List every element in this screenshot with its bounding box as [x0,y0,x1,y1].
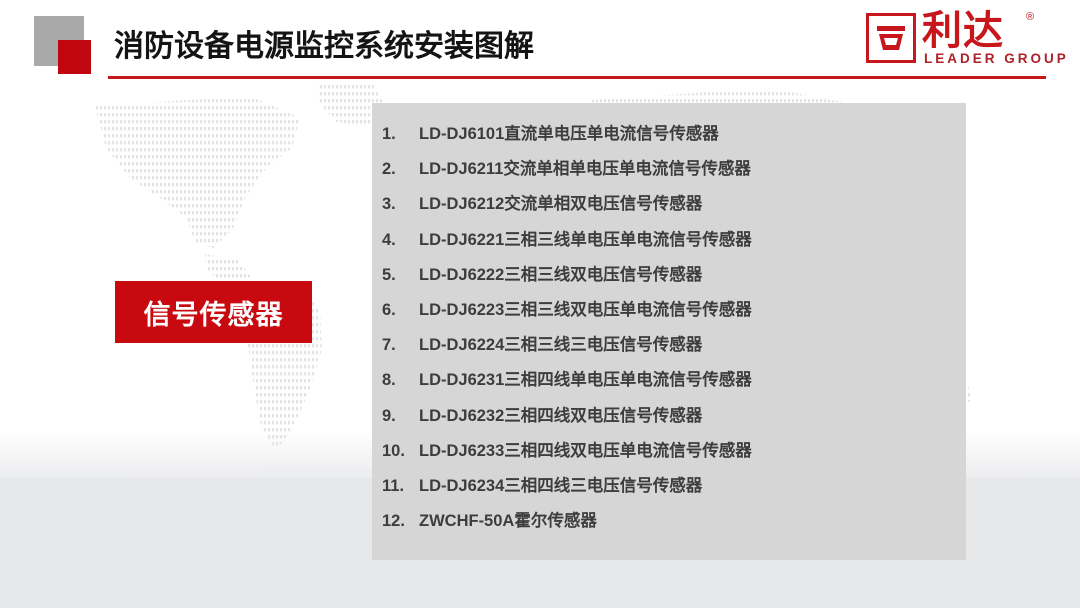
list-item-label: LD-DJ6101直流单电压单电流信号传感器 [419,120,719,144]
list-item-number: 8. [382,371,419,390]
product-list: 1.LD-DJ6101直流单电压单电流信号传感器2.LD-DJ6211交流单相单… [372,120,966,542]
list-item-label: LD-DJ6223三相三线双电压单电流信号传感器 [419,296,752,320]
list-item-label: LD-DJ6212交流单相双电压信号传感器 [419,190,702,214]
list-item-number: 7. [382,336,419,355]
list-item-number: 3. [382,195,419,214]
logo-cup-glyph-icon [876,24,906,52]
list-item-label: LD-DJ6224三相三线三电压信号传感器 [419,331,702,355]
list-item-label: LD-DJ6231三相四线单电压单电流信号传感器 [419,366,752,390]
list-item-number: 9. [382,407,419,426]
logo-registered-icon: ® [1026,11,1034,23]
list-item: 7.LD-DJ6224三相三线三电压信号传感器 [372,331,966,366]
decorative-red-square [58,40,91,74]
leader-group-mark-icon [866,13,916,63]
logo-chinese-name: 利达 [922,7,1004,55]
list-item-label: ZWCHF-50A霍尔传感器 [419,507,597,531]
list-item-number: 2. [382,160,419,179]
brand-logo: 利达 ® LEADER GROUP [866,9,1056,71]
list-item: 8.LD-DJ6231三相四线单电压单电流信号传感器 [372,366,966,401]
content-panel: 1.LD-DJ6101直流单电压单电流信号传感器2.LD-DJ6211交流单相单… [372,103,966,560]
slide-header: 消防设备电源监控系统安装图解 利达 ® LEADER GROUP [0,0,1080,78]
section-label-badge: 信号传感器 [115,281,312,343]
list-item: 4.LD-DJ6221三相三线单电压单电流信号传感器 [372,226,966,261]
list-item-number: 5. [382,266,419,285]
list-item-label: LD-DJ6222三相三线双电压信号传感器 [419,261,702,285]
list-item-label: LD-DJ6221三相三线单电压单电流信号传感器 [419,226,752,250]
page-title: 消防设备电源监控系统安装图解 [114,26,534,68]
list-item-number: 11. [382,477,419,496]
list-item-label: LD-DJ6233三相四线双电压单电流信号传感器 [419,437,752,461]
list-item: 12.ZWCHF-50A霍尔传感器 [372,507,966,542]
list-item: 10.LD-DJ6233三相四线双电压单电流信号传感器 [372,437,966,472]
slide-canvas: 消防设备电源监控系统安装图解 利达 ® LEADER GROUP 信号传感器 1… [0,0,1080,608]
list-item-label: LD-DJ6211交流单相单电压单电流信号传感器 [419,155,751,179]
list-item: 5.LD-DJ6222三相三线双电压信号传感器 [372,261,966,296]
list-item: 6.LD-DJ6223三相三线双电压单电流信号传感器 [372,296,966,331]
header-divider [108,76,1046,79]
list-item: 11.LD-DJ6234三相四线三电压信号传感器 [372,472,966,507]
logo-english-name: LEADER GROUP [924,51,1069,66]
list-item-number: 12. [382,512,419,531]
list-item-label: LD-DJ6234三相四线三电压信号传感器 [419,472,702,496]
list-item-number: 10. [382,442,419,461]
list-item: 2.LD-DJ6211交流单相单电压单电流信号传感器 [372,155,966,190]
list-item: 1.LD-DJ6101直流单电压单电流信号传感器 [372,120,966,155]
list-item-number: 4. [382,231,419,250]
section-label-text: 信号传感器 [144,293,284,332]
list-item: 9.LD-DJ6232三相四线双电压信号传感器 [372,402,966,437]
list-item-label: LD-DJ6232三相四线双电压信号传感器 [419,402,702,426]
list-item: 3.LD-DJ6212交流单相双电压信号传感器 [372,190,966,225]
list-item-number: 6. [382,301,419,320]
list-item-number: 1. [382,125,419,144]
